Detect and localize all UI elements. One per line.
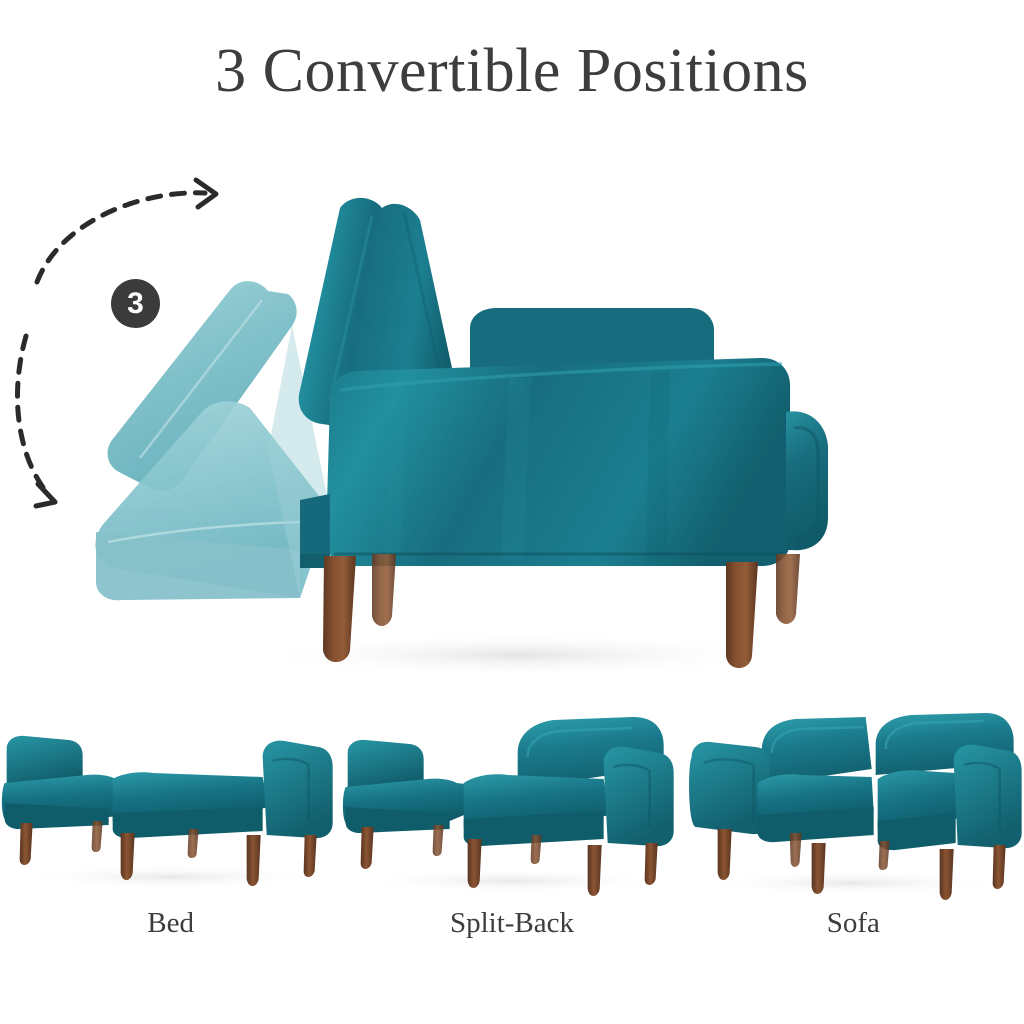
curved-dashed-arrow-up: [37, 193, 205, 282]
position-label-row: Bed Split-Back Sofa: [0, 903, 1024, 951]
hero-rolled-arm: [786, 411, 828, 550]
hero-leg-rear-right: [776, 554, 800, 624]
hero-seat-cushion-edge: [300, 494, 330, 554]
hero-base-rail: [117, 484, 332, 568]
position-count-badge: 3: [111, 279, 160, 328]
label-sofa: Sofa: [683, 903, 1024, 951]
label-split-back: Split-Back: [341, 903, 682, 951]
hero-illustration: [0, 150, 1024, 690]
infographic-page: 3 Convertible Positions: [0, 0, 1024, 1024]
hero-leg-rear-left: [372, 554, 396, 626]
thumbnail-sofa[interactable]: [683, 695, 1024, 905]
curved-dashed-arrow-down: [17, 336, 48, 494]
label-bed: Bed: [0, 903, 341, 951]
badge-number: 3: [127, 289, 144, 319]
position-thumbnail-row: [0, 695, 1024, 905]
thumbnail-split-back[interactable]: [341, 695, 682, 905]
thumbnail-bed[interactable]: [0, 695, 341, 905]
page-title: 3 Convertible Positions: [0, 36, 1024, 107]
hero-main-body: [326, 358, 790, 566]
